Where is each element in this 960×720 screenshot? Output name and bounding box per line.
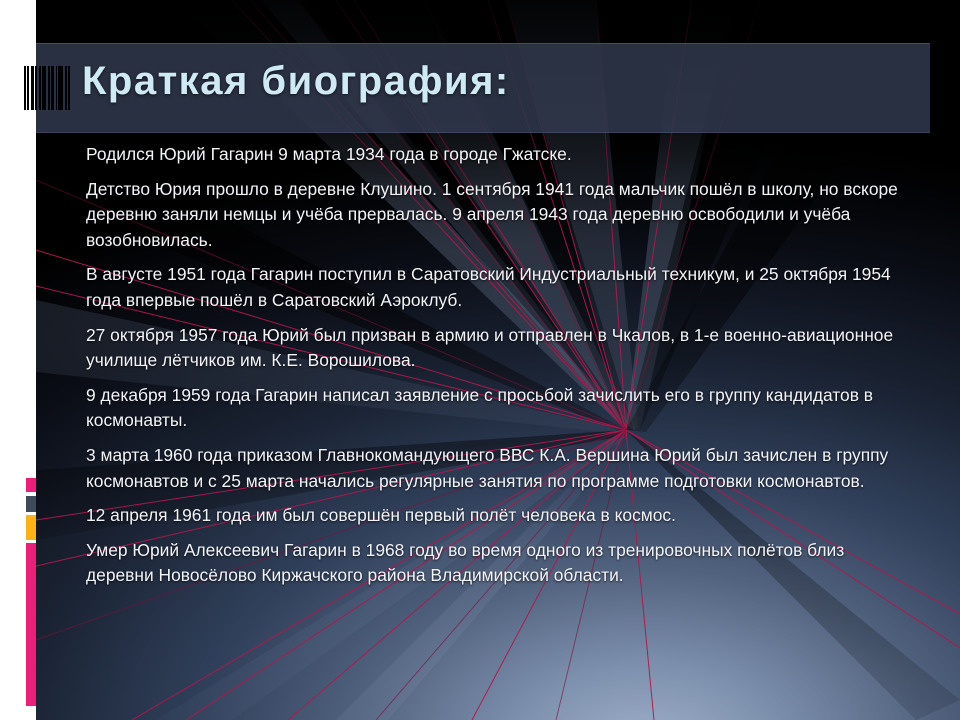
- barcode-bar: [31, 66, 34, 110]
- biography-paragraph: Родился Юрий Гагарин 9 марта 1934 года в…: [86, 142, 914, 168]
- biography-paragraph: 27 октября 1957 года Юрий был призван в …: [86, 323, 914, 374]
- barcode-bar: [48, 66, 50, 110]
- biography-paragraph: В августе 1951 года Гагарин поступил в С…: [86, 262, 914, 313]
- biography-paragraph: 12 апреля 1961 года им был совершён перв…: [86, 503, 914, 529]
- barcode-bar: [24, 66, 26, 110]
- biography-text-block: Родился Юрий Гагарин 9 марта 1934 года в…: [86, 142, 914, 589]
- barcode-bar: [39, 66, 41, 110]
- chip-yellow: [26, 515, 36, 540]
- barcode-bar: [65, 66, 67, 110]
- biography-paragraph: Детство Юрия прошло в деревне Клушино. 1…: [86, 177, 914, 254]
- rail-pink-long: [26, 543, 36, 706]
- biography-paragraph: 3 марта 1960 года приказом Главнокоманду…: [86, 443, 914, 494]
- barcode-bar: [27, 66, 29, 110]
- barcode-icon: [24, 66, 72, 110]
- biography-paragraph: Умер Юрий Алексеевич Гагарин в 1968 году…: [86, 538, 914, 589]
- barcode-bar: [35, 66, 37, 110]
- biography-paragraph: 9 декабря 1959 года Гагарин написал заяв…: [86, 383, 914, 434]
- page-title: Краткая биография:: [82, 59, 510, 104]
- barcode-bar: [42, 66, 46, 110]
- barcode-bar: [58, 66, 63, 110]
- barcode-bar: [68, 66, 70, 110]
- chip-pink-top: [26, 478, 36, 492]
- chip-slate: [26, 496, 36, 512]
- presentation-slide: Краткая биография: Родился Юрий Гагарин …: [0, 0, 960, 720]
- barcode-bar: [51, 66, 54, 110]
- barcode-bar: [56, 66, 58, 110]
